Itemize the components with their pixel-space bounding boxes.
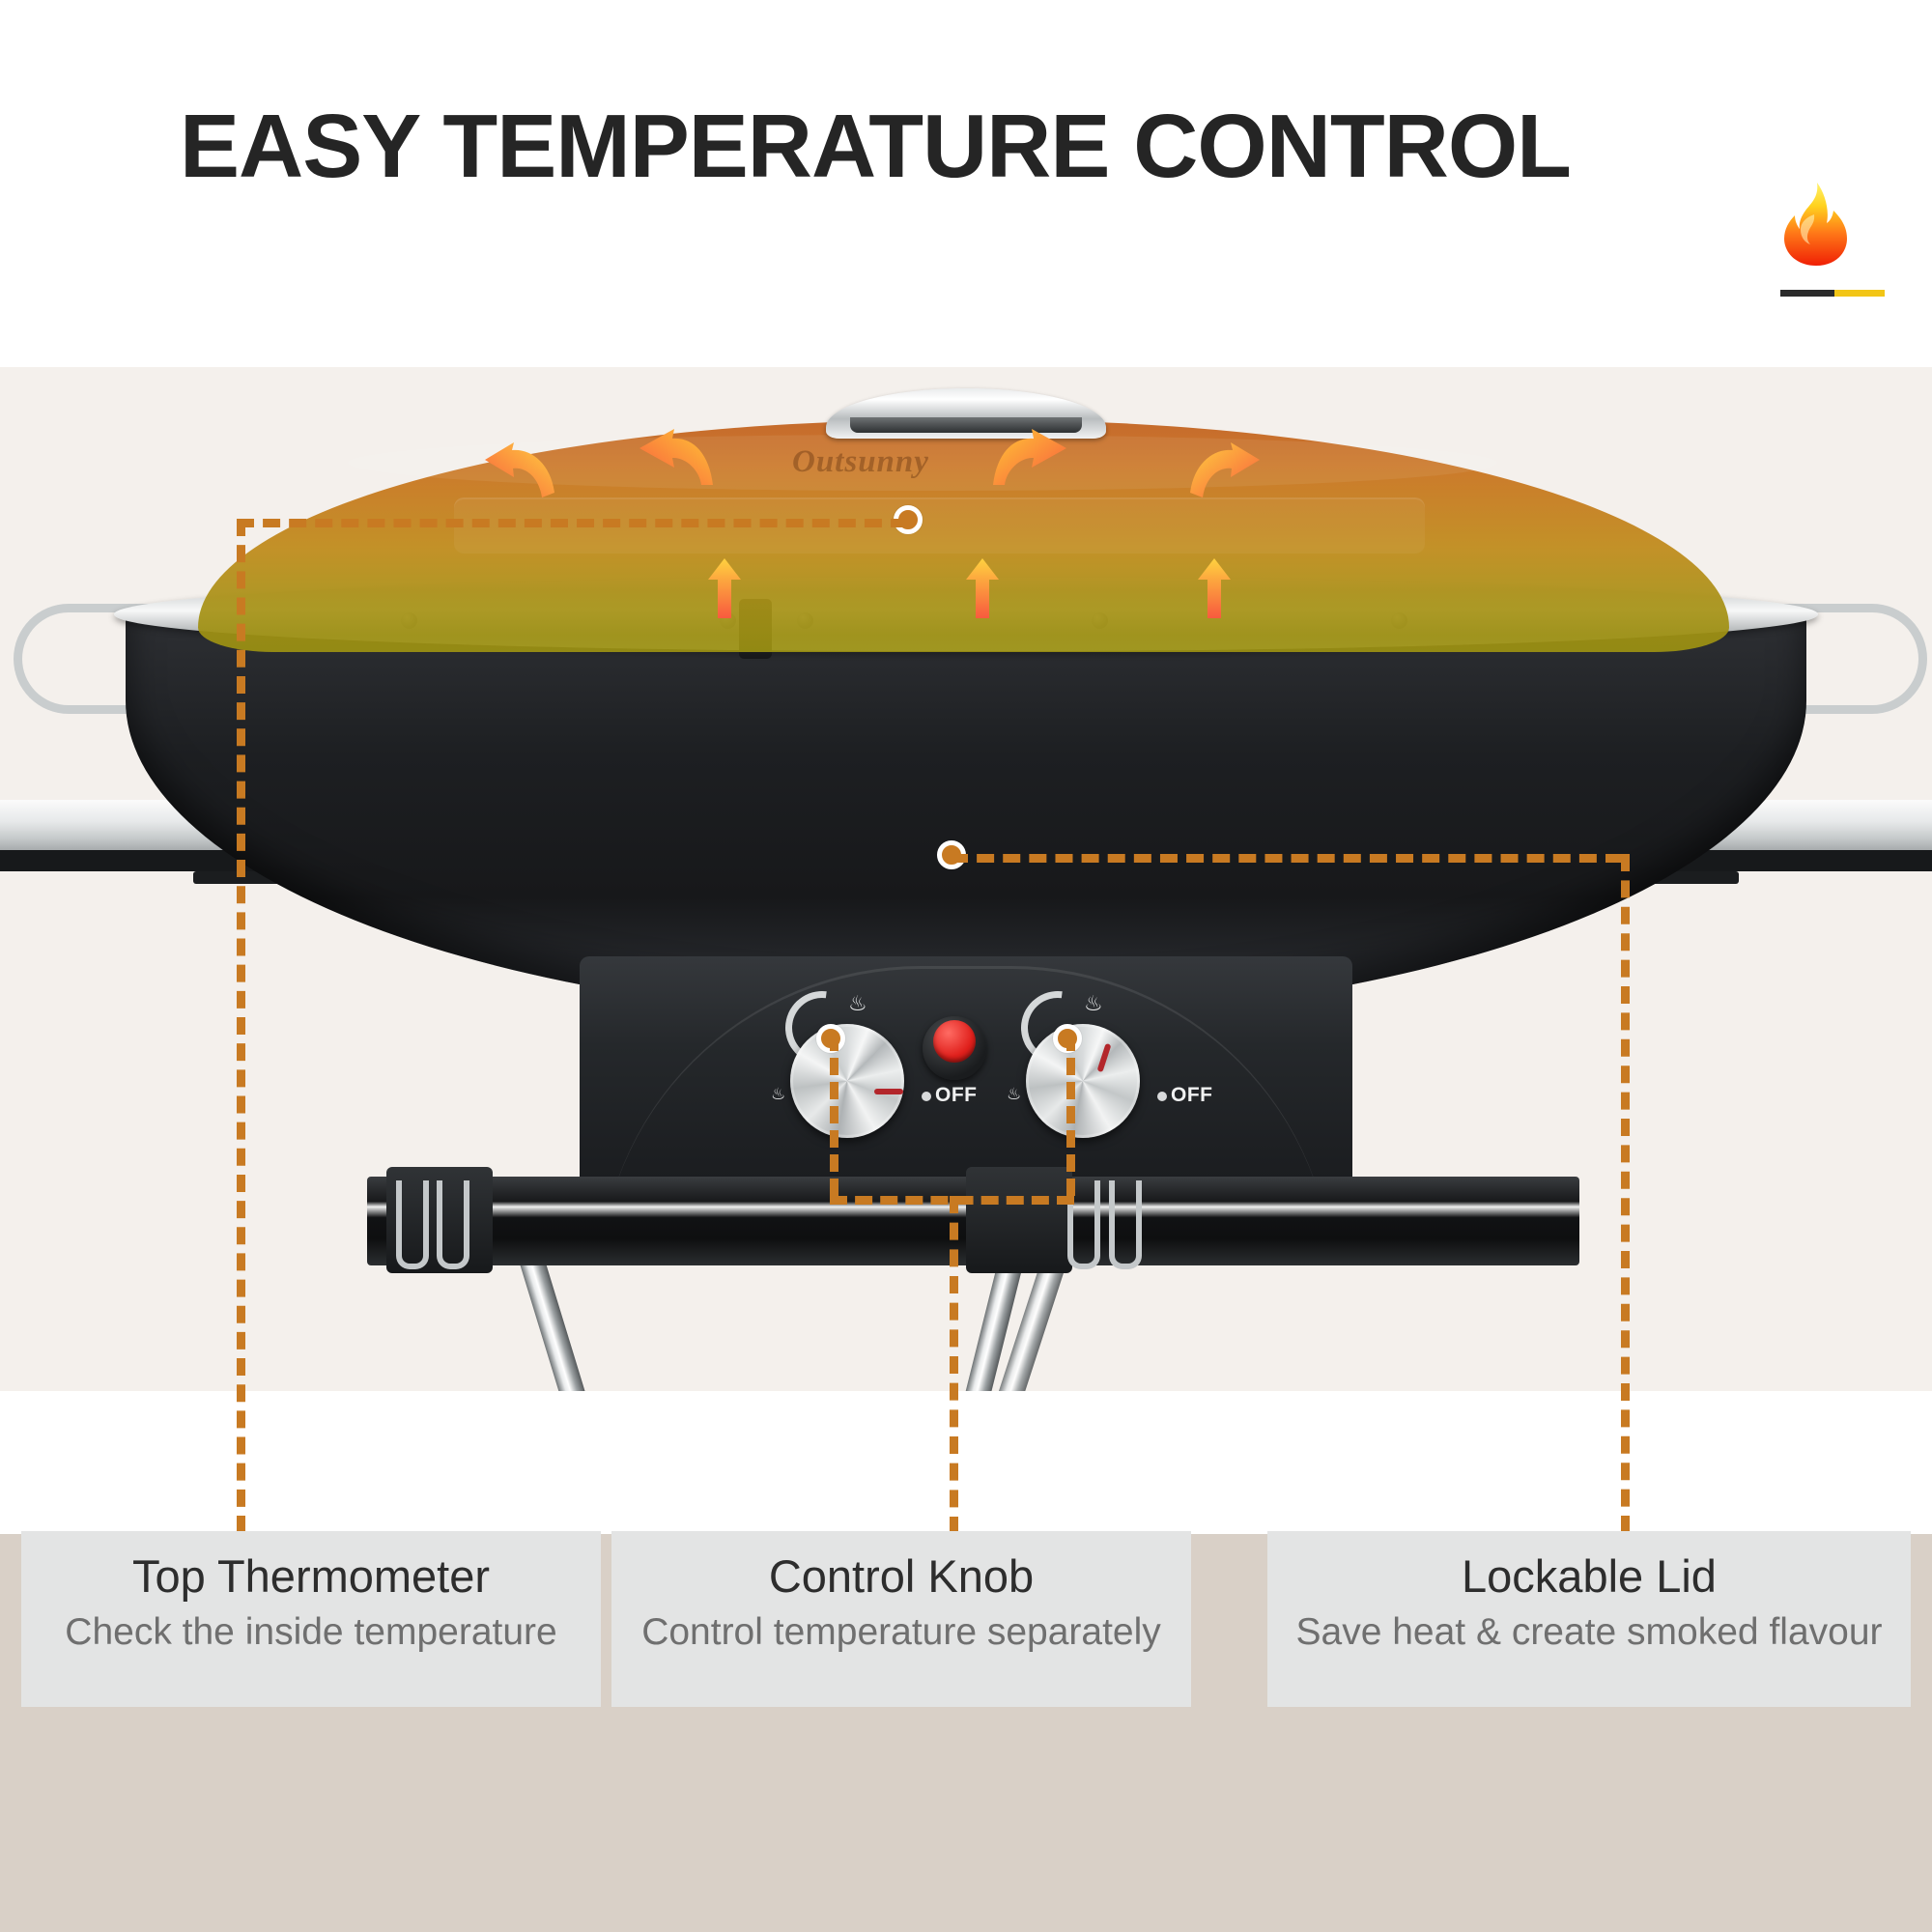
callout-line-left-knob-v bbox=[830, 1034, 838, 1196]
heat-arrow-up-3 bbox=[1198, 558, 1231, 618]
card-subtitle: Control temperature separately bbox=[641, 1611, 1161, 1655]
left-knob-indicator bbox=[874, 1089, 903, 1094]
callout-line-right-knob-v bbox=[1066, 1034, 1075, 1196]
heat-arrow-curved-left-outer bbox=[483, 442, 560, 510]
flame-icon: ♨ bbox=[1007, 1086, 1021, 1102]
ignition-button[interactable] bbox=[933, 1020, 976, 1063]
flame-icon: ♨ bbox=[848, 993, 867, 1014]
brand-logo-text: Outsunny bbox=[792, 444, 929, 480]
flame-icon bbox=[1782, 182, 1850, 267]
card-title: Lockable Lid bbox=[1462, 1552, 1717, 1602]
feature-card-lockable-lid[interactable]: Lockable Lid Save heat & create smoked f… bbox=[1267, 1531, 1911, 1707]
callout-line-knob-drop bbox=[950, 1196, 958, 1534]
heat-arrow-curved-right-inner bbox=[987, 427, 1068, 498]
heat-arrow-up-1 bbox=[708, 558, 741, 618]
right-off-dot bbox=[1157, 1092, 1167, 1101]
card-title: Control Knob bbox=[769, 1552, 1034, 1602]
left-u-bolt bbox=[396, 1180, 429, 1269]
flame-icon: ♨ bbox=[771, 1086, 785, 1102]
left-off-label: OFF bbox=[935, 1084, 978, 1107]
right-u-bolt-2 bbox=[1109, 1180, 1142, 1269]
callout-line-thermometer-h bbox=[237, 519, 908, 527]
heat-arrow-curved-right-outer bbox=[1184, 442, 1262, 510]
header-bar: EASY TEMPERATURE CONTROL bbox=[0, 0, 1932, 367]
flame-icon: ♨ bbox=[1084, 993, 1103, 1014]
heat-arrow-curved-left-inner bbox=[638, 427, 719, 498]
accent-rule bbox=[1780, 290, 1885, 297]
right-burner-knob[interactable] bbox=[1026, 1024, 1140, 1138]
heat-arrow-up-2 bbox=[966, 558, 999, 618]
right-off-label: OFF bbox=[1171, 1084, 1213, 1107]
card-subtitle: Check the inside temperature bbox=[65, 1611, 556, 1655]
card-subtitle: Save heat & create smoked flavour bbox=[1296, 1611, 1883, 1655]
feature-card-control-knob[interactable]: Control Knob Control temperature separat… bbox=[611, 1531, 1191, 1707]
callout-line-thermometer-v bbox=[237, 519, 245, 1533]
feature-cards: Top Thermometer Check the inside tempera… bbox=[0, 1531, 1932, 1753]
left-burner-knob[interactable] bbox=[790, 1024, 904, 1138]
left-u-bolt-2 bbox=[437, 1180, 469, 1269]
right-frame-bracket bbox=[966, 1167, 1072, 1273]
white-separator-band bbox=[0, 1391, 1932, 1534]
left-off-dot bbox=[922, 1092, 931, 1101]
page-title: EASY TEMPERATURE CONTROL bbox=[180, 95, 1571, 198]
feature-card-top-thermometer[interactable]: Top Thermometer Check the inside tempera… bbox=[21, 1531, 601, 1707]
card-title: Top Thermometer bbox=[132, 1552, 490, 1602]
callout-line-lid-v bbox=[1621, 854, 1630, 1533]
callout-line-lid-h bbox=[951, 854, 1623, 863]
infographic-page: EASY TEMPERATURE CONTROL bbox=[0, 0, 1932, 1932]
